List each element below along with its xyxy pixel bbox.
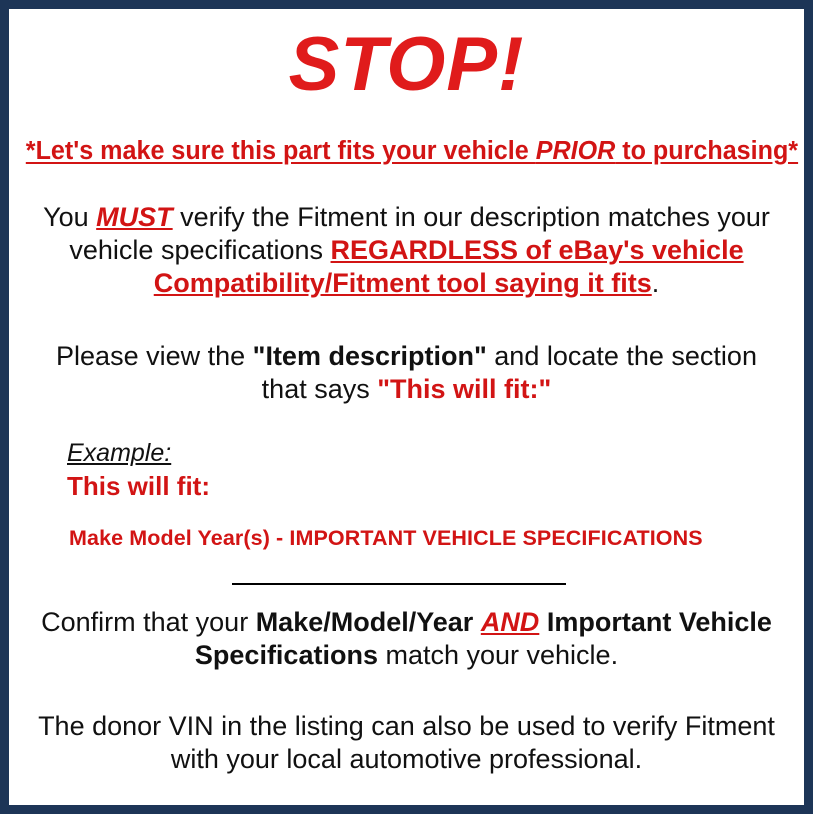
banner-lead-text: *Let's make sure this part fits your veh…	[26, 137, 536, 165]
fitment-notice-card: STOP! *Let's make sure this part fits yo…	[0, 0, 813, 814]
confirm-paragraph: Confirm that your Make/Model/Year AND Im…	[20, 606, 793, 672]
page-title: STOP!	[20, 27, 793, 103]
must-emphasis: MUST	[96, 202, 173, 232]
thank-you-line: Thank you for confirming Fitment!	[20, 802, 793, 814]
confirm-part1: Confirm that your	[41, 607, 256, 637]
item-description-emphasis: "Item description"	[253, 341, 487, 371]
notice-content: STOP! *Let's make sure this part fits yo…	[9, 9, 804, 805]
example-label: Example:	[67, 440, 171, 468]
banner-warning-line: *Let's make sure this part fits your veh…	[26, 137, 787, 166]
banner-trail-text: to purchasing*	[615, 137, 798, 165]
donor-vin-paragraph: The donor VIN in the listing can also be…	[20, 710, 793, 776]
example-spec-line: Make Model Year(s) - IMPORTANT VEHICLE S…	[69, 526, 793, 551]
must-part1: You	[43, 202, 96, 232]
example-block: Example: This will fit: Make Model Year(…	[20, 440, 793, 551]
and-emphasis: AND	[481, 607, 540, 637]
make-model-year-emphasis: Make/Model/Year	[256, 607, 474, 637]
please-part1: Please view the	[56, 341, 253, 371]
must-part3: .	[652, 268, 660, 298]
example-fit-heading: This will fit:	[67, 472, 793, 502]
this-will-fit-quote: "This will fit:"	[377, 374, 551, 404]
must-verify-paragraph: You MUST verify the Fitment in our descr…	[20, 201, 793, 300]
confirm-part2: match your vehicle.	[378, 640, 618, 670]
please-view-paragraph: Please view the "Item description" and l…	[20, 340, 793, 406]
divider-rule	[232, 583, 566, 585]
banner-prior-emphasis: PRIOR	[536, 137, 616, 165]
example-label-row: Example:	[67, 440, 793, 468]
